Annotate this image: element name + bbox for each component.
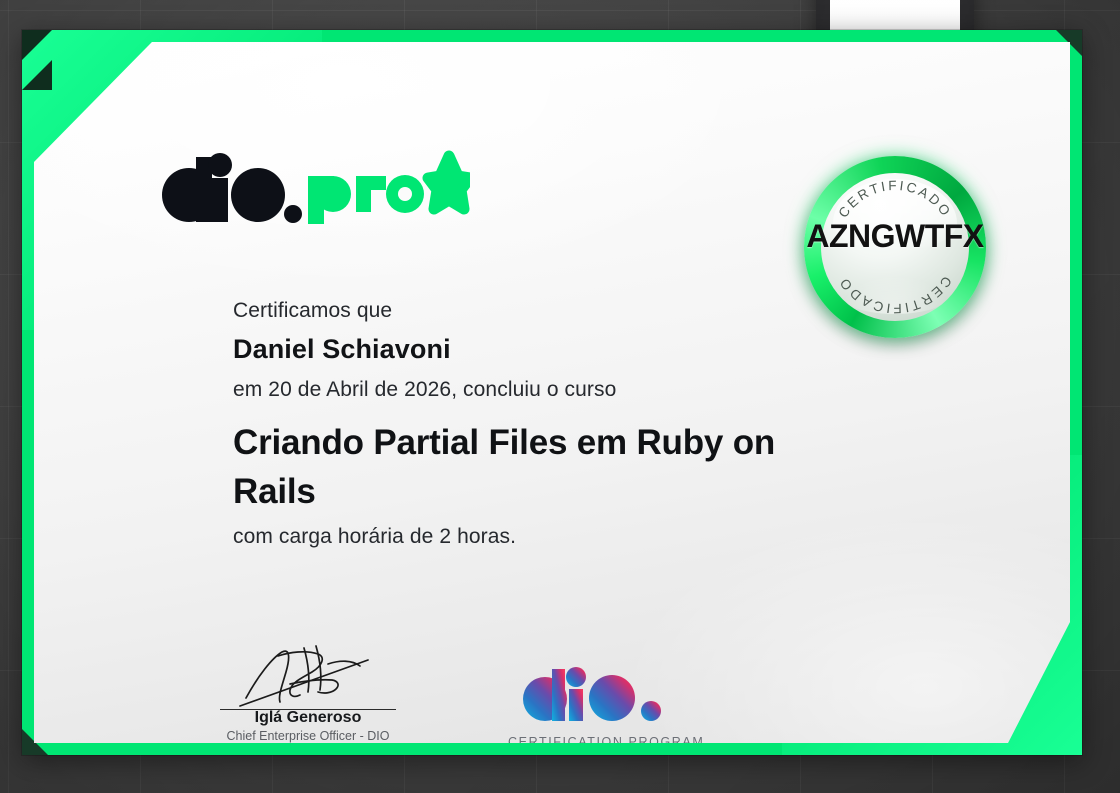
dio-gradient-logo-graphic	[520, 666, 676, 724]
signer-name: Iglá Generoso	[220, 709, 396, 727]
certification-program-caption: CERTIFICATION PROGRAM	[508, 735, 688, 749]
certificate-content: Certificamos que Daniel Schiavoni em 20 …	[34, 42, 1070, 743]
certificate-panel: Certificamos que Daniel Schiavoni em 20 …	[34, 42, 1070, 743]
seal-arc-text-top: CERTIFICADO	[835, 178, 954, 221]
frame-corner-chip-bottom-right	[22, 60, 52, 90]
certificate-frame: Certificamos que Daniel Schiavoni em 20 …	[22, 30, 1082, 755]
seal-arc-text-bottom: CERTIFICADO	[835, 274, 954, 317]
course-title: Criando Partial Files em Ruby on Rails	[233, 418, 833, 516]
intro-line: Certificamos que	[233, 298, 873, 324]
signature-rule	[220, 709, 396, 710]
course-hours-line: com carga horária de 2 horas.	[233, 524, 873, 550]
handwritten-signature	[220, 640, 396, 710]
certificate-text-block: Certificamos que Daniel Schiavoni em 20 …	[233, 298, 873, 550]
seal-verification-code: AZNGWTFX	[790, 218, 1000, 255]
dio-pro-logo	[152, 150, 470, 224]
recipient-name: Daniel Schiavoni	[233, 334, 873, 365]
dio-pro-logo-graphic	[152, 150, 470, 224]
verification-seal: CERTIFICADO CERTIFICADO AZNGWTFX	[804, 156, 986, 338]
frame-corner-chip-top-left	[22, 30, 52, 60]
completion-date-line: em 20 de Abril de 2026, concluiu o curso	[233, 377, 873, 403]
signature-block: Iglá Generoso Chief Enterprise Officer -…	[220, 640, 396, 743]
signature-strokes	[220, 640, 396, 710]
certificate-page: Certificamos que Daniel Schiavoni em 20 …	[0, 0, 1120, 793]
signer-role: Chief Enterprise Officer - DIO	[220, 729, 396, 743]
certification-program-logo: CERTIFICATION PROGRAM	[508, 666, 688, 749]
